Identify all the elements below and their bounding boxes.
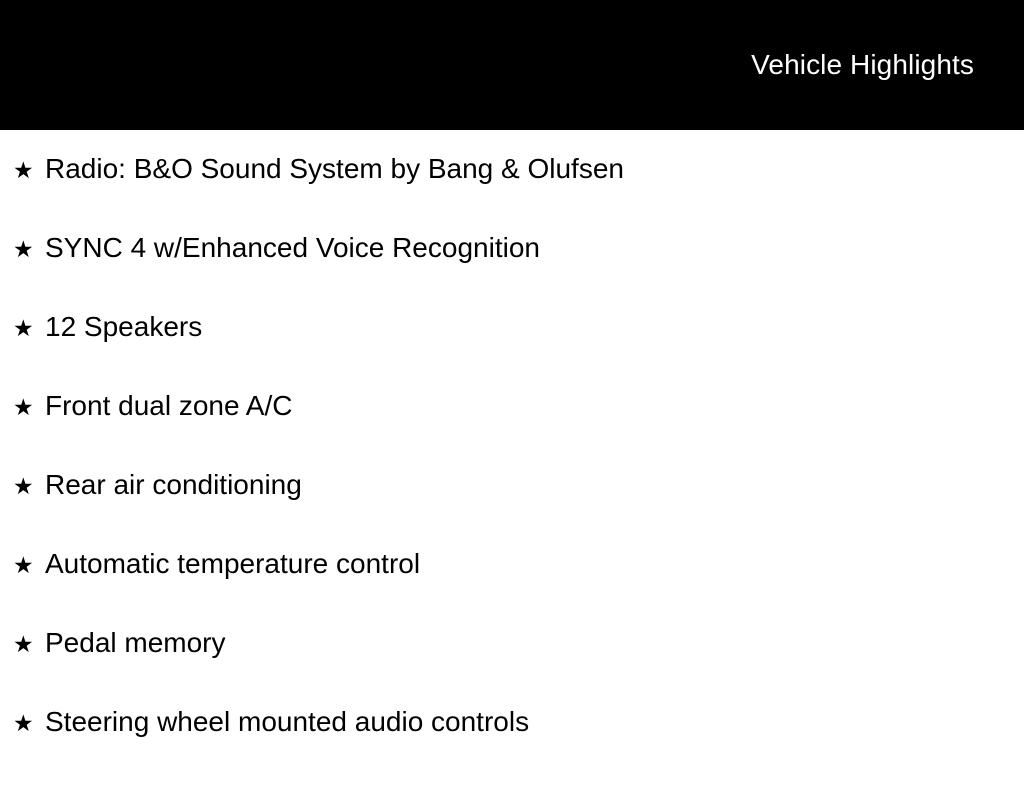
star-bullet-icon: ★ [13,397,45,420]
list-item: ★ Rear air conditioning [0,469,1024,548]
star-bullet-icon: ★ [13,239,45,262]
list-item-label: Radio: B&O Sound System by Bang & Olufse… [45,153,624,185]
star-bullet-icon: ★ [13,555,45,578]
header-band: Vehicle Highlights [0,0,1024,130]
page-title: Vehicle Highlights [751,50,974,81]
list-item-label: Automatic temperature control [45,548,420,580]
list-item-label: Steering wheel mounted audio controls [45,706,529,738]
list-item-label: Pedal memory [45,627,226,659]
list-item: ★ 12 Speakers [0,311,1024,390]
list-item-label: Rear air conditioning [45,469,302,501]
list-item-label: SYNC 4 w/Enhanced Voice Recognition [45,232,540,264]
list-item: ★ Pedal memory [0,627,1024,706]
list-item-label: 12 Speakers [45,311,202,343]
vehicle-highlights-list: ★ Radio: B&O Sound System by Bang & Oluf… [0,130,1024,768]
vehicle-highlights-page: Vehicle Highlights ★ Radio: B&O Sound Sy… [0,0,1024,768]
star-bullet-icon: ★ [13,713,45,736]
list-item: ★ Steering wheel mounted audio controls [0,706,1024,785]
list-item: ★ SYNC 4 w/Enhanced Voice Recognition [0,232,1024,311]
list-item: ★ Radio: B&O Sound System by Bang & Oluf… [0,153,1024,232]
list-item: ★ Automatic temperature control [0,548,1024,627]
list-item-label: Front dual zone A/C [45,390,292,422]
list-item: ★ Front dual zone A/C [0,390,1024,469]
star-bullet-icon: ★ [13,318,45,341]
star-bullet-icon: ★ [13,476,45,499]
star-bullet-icon: ★ [13,634,45,657]
star-bullet-icon: ★ [13,160,45,183]
